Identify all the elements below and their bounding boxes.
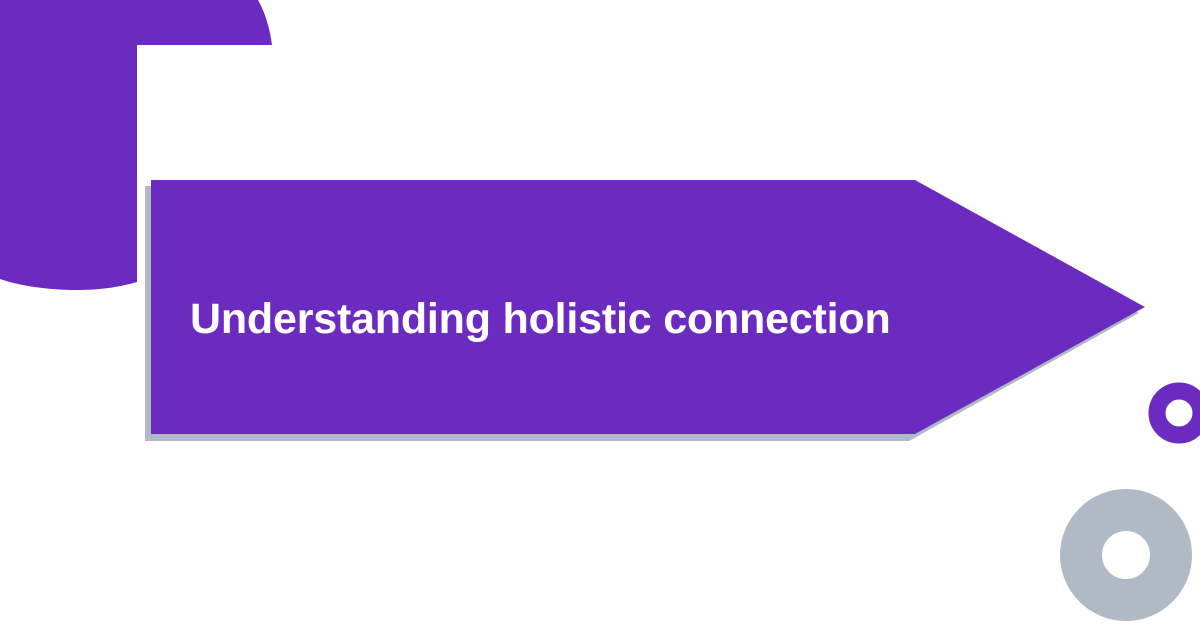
purple-ring-icon — [1157, 391, 1200, 435]
banner-title: Understanding holistic connection — [190, 288, 1050, 350]
gray-ring-icon — [1081, 510, 1171, 600]
banner-canvas: Understanding holistic connection — [0, 0, 1200, 630]
